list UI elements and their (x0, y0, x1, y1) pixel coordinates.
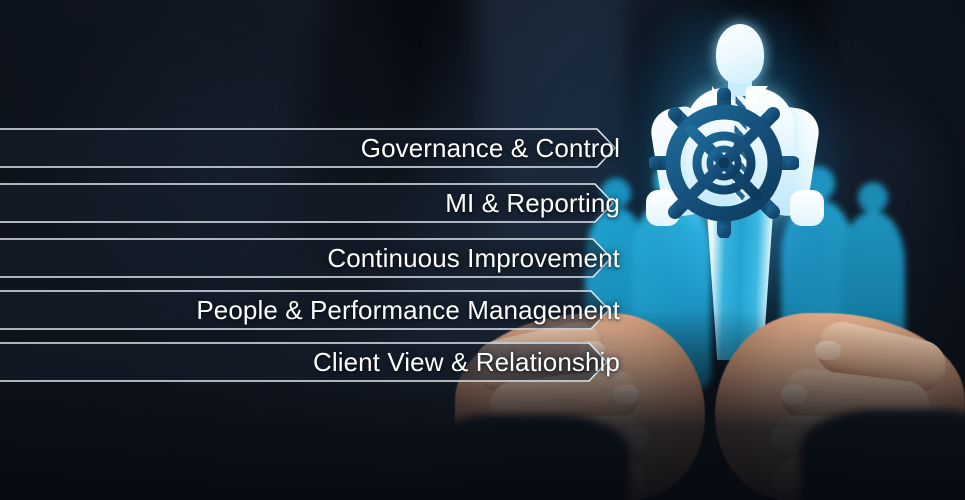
arrow-label-1: Governance & Control (20, 128, 620, 168)
arrow-row-1[interactable]: Governance & Control (0, 128, 620, 168)
arrow-label-5: Client View & Relationship (28, 342, 620, 382)
arrow-label-2: MI & Reporting (22, 183, 620, 223)
arrow-label-3: Continuous Improvement (24, 238, 620, 278)
framework-arrow-list: Governance & Control MI & Reporting Cont… (0, 0, 640, 420)
ships-helm-wheel-icon (649, 88, 799, 238)
arrow-row-3[interactable]: Continuous Improvement (0, 238, 620, 278)
arrow-row-4[interactable]: People & Performance Management (0, 290, 620, 330)
banner-image: Governance & Control MI & Reporting Cont… (0, 0, 965, 500)
arrow-row-2[interactable]: MI & Reporting (0, 183, 620, 223)
arrow-label-4: People & Performance Management (26, 290, 620, 330)
arrow-row-5[interactable]: Client View & Relationship (0, 342, 620, 382)
leader-head (716, 24, 764, 84)
